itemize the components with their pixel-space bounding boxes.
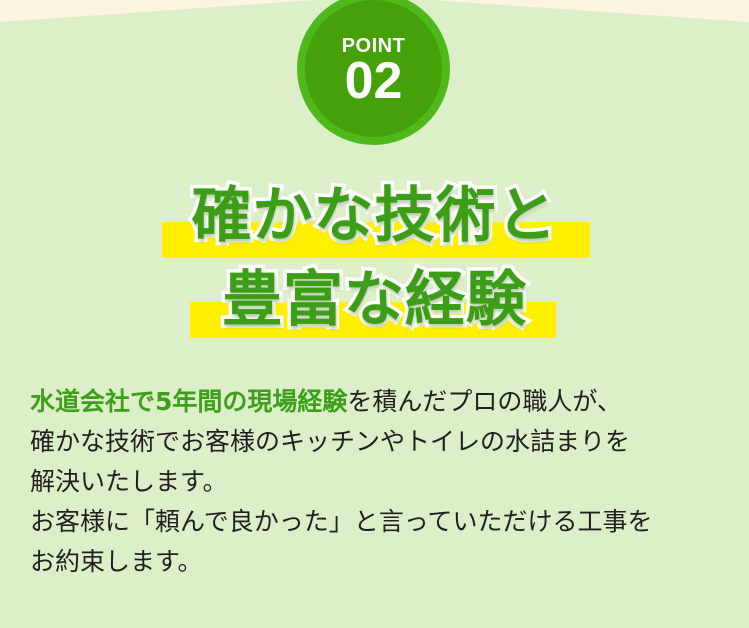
headline: 確かな技術と 豊富な経験 (0, 176, 749, 344)
body-line-1: 水道会社で5年間の現場経験を積んだプロの職人が、 (30, 382, 730, 422)
body-emphasis: 水道会社で5年間の現場経験 (30, 387, 347, 416)
point-section: POINT 02 確かな技術と 豊富な経験 水道会社で5年間の現場経験を積んだプ… (0, 0, 749, 628)
headline-text-1: 確かな技術と (192, 176, 558, 256)
body-paragraph: 水道会社で5年間の現場経験を積んだプロの職人が、 確かな技術でお客様のキッチンや… (30, 382, 730, 582)
badge-text-group: POINT 02 (297, 0, 450, 145)
headline-line-2: 豊富な経験 (0, 260, 749, 344)
point-badge: POINT 02 (297, 0, 450, 145)
badge-number: 02 (345, 57, 403, 107)
body-line-2: 確かな技術でお客様のキッチンやトイレの水詰まりを (30, 422, 730, 462)
body-line-4: お客様に「頼んで良かった」と言っていただける工事を (30, 502, 730, 542)
body-line-3: 解決いたします。 (30, 462, 730, 502)
body-line-5: お約束します。 (30, 542, 730, 582)
body-line-1-rest: を積んだプロの職人が、 (347, 387, 622, 416)
headline-line-1: 確かな技術と (0, 176, 749, 260)
headline-text-2: 豊富な経験 (222, 260, 527, 340)
